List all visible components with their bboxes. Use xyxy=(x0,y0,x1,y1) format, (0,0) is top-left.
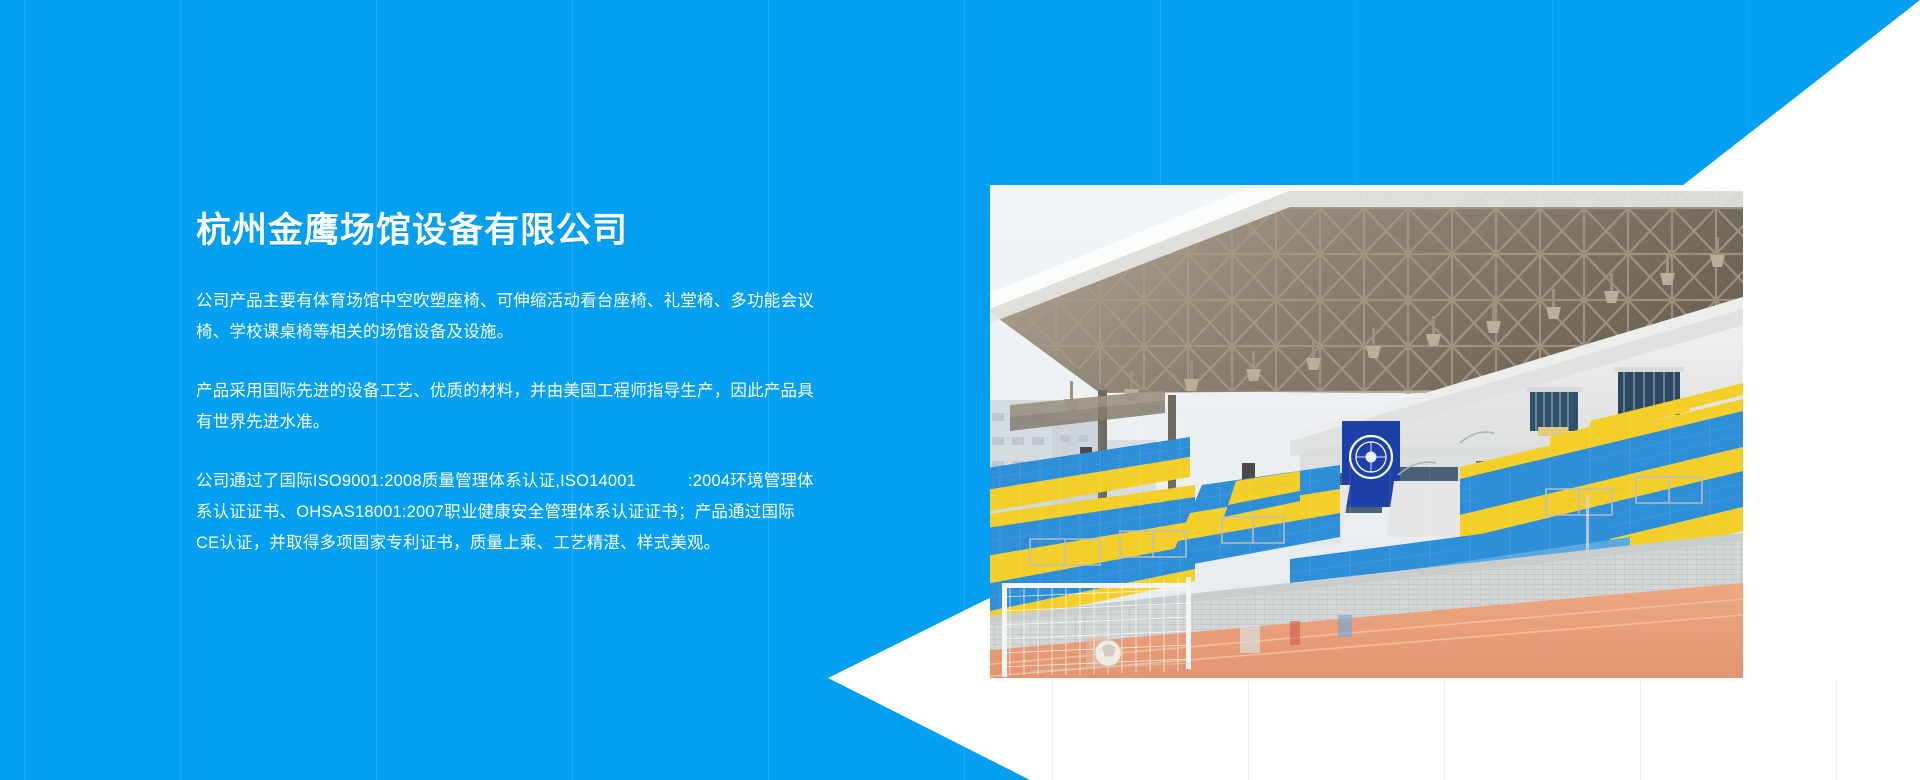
intro-paragraph-quality: 产品采用国际先进的设备工艺、优质的材料，并由美国工程师指导生产，因此产品具有世界… xyxy=(196,376,816,438)
hero-text-column: 杭州金鹰场馆设备有限公司 公司产品主要有体育场馆中空吹塑座椅、可伸缩活动看台座椅… xyxy=(196,210,816,559)
light-pole xyxy=(1586,495,1589,585)
stadium-photo xyxy=(990,185,1743,678)
banner xyxy=(1342,421,1400,507)
page-title: 杭州金鹰场馆设备有限公司 xyxy=(196,210,816,252)
intro-paragraph-products: 公司产品主要有体育场馆中空吹塑座椅、可伸缩活动看台座椅、礼堂椅、多功能会议椅、学… xyxy=(196,286,816,348)
hero-banner: 杭州金鹰场馆设备有限公司 公司产品主要有体育场馆中空吹塑座椅、可伸缩活动看台座椅… xyxy=(0,0,1920,780)
intro-paragraph-certifications: 公司通过了国际ISO9001:2008质量管理体系认证,ISO14001:200… xyxy=(196,466,816,559)
stadium-photo-illustration xyxy=(990,185,1743,678)
cert-text-before-gap: 公司通过了国际ISO9001:2008质量管理体系认证,ISO14001 xyxy=(196,472,636,490)
